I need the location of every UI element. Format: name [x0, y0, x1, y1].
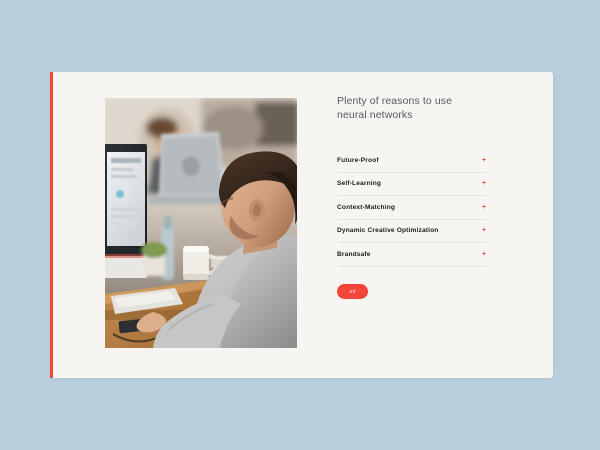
hero-photograph [105, 98, 297, 348]
plus-icon[interactable]: + [482, 227, 487, 234]
slide-canvas: Plenty of reasons to use neural networks… [0, 0, 600, 450]
slide-card: Plenty of reasons to use neural networks… [50, 72, 553, 378]
content-column: Plenty of reasons to use neural networks… [337, 94, 502, 299]
list-item-label: Dynamic Creative Optimization [337, 227, 438, 234]
plus-icon[interactable]: + [482, 204, 487, 211]
list-item[interactable]: Dynamic Creative Optimization + [337, 220, 487, 244]
plus-icon[interactable]: + [482, 157, 487, 164]
cta-button[interactable]: All [337, 284, 368, 299]
plus-icon[interactable]: + [482, 251, 487, 258]
plus-icon[interactable]: + [482, 180, 487, 187]
list-item[interactable]: Context-Matching + [337, 196, 487, 220]
list-item-label: Self-Learning [337, 180, 381, 187]
reasons-list: Future-Proof + Self-Learning + Context-M… [337, 148, 487, 267]
list-item[interactable]: Self-Learning + [337, 173, 487, 197]
list-item-label: Brandsafe [337, 251, 371, 258]
left-red-accent-bar [50, 72, 53, 378]
list-item[interactable]: Future-Proof + [337, 148, 487, 173]
list-item-label: Future-Proof [337, 157, 379, 164]
page-title: Plenty of reasons to use neural networks [337, 94, 502, 122]
list-item[interactable]: Brandsafe + [337, 243, 487, 267]
list-item-label: Context-Matching [337, 204, 395, 211]
